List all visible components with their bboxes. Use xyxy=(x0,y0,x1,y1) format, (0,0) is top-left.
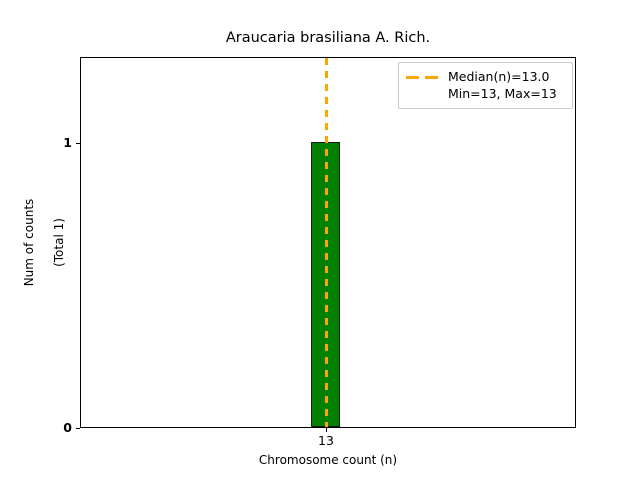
y-tick-label: 1 xyxy=(46,137,72,149)
y-axis-label: Num of counts (Total 1) xyxy=(22,57,62,428)
x-tick-label: 13 xyxy=(296,434,356,448)
y-axis-label-line2: (Total 1) xyxy=(52,218,66,267)
chart-title: Araucaria brasiliana A. Rich. xyxy=(80,30,576,47)
chart-figure: Araucaria brasiliana A. Rich. Num of cou… xyxy=(0,0,640,480)
legend-entry-median: Median(n)=13.0 xyxy=(448,68,565,85)
legend-entry-minmax: Min=13, Max=13 xyxy=(448,85,565,102)
y-tick-label: 0 xyxy=(46,422,72,434)
legend: Median(n)=13.0 Min=13, Max=13 xyxy=(398,62,573,109)
plot-area xyxy=(80,57,576,428)
dashed-line-icon xyxy=(406,70,440,85)
y-axis-label-line1: Num of counts xyxy=(22,199,36,287)
x-tick-mark xyxy=(326,428,327,432)
x-axis-label: Chromosome count (n) xyxy=(80,453,576,467)
legend-text: Median(n)=13.0 Min=13, Max=13 xyxy=(448,68,565,102)
median-line xyxy=(325,58,328,428)
y-tick-mark xyxy=(76,428,80,429)
